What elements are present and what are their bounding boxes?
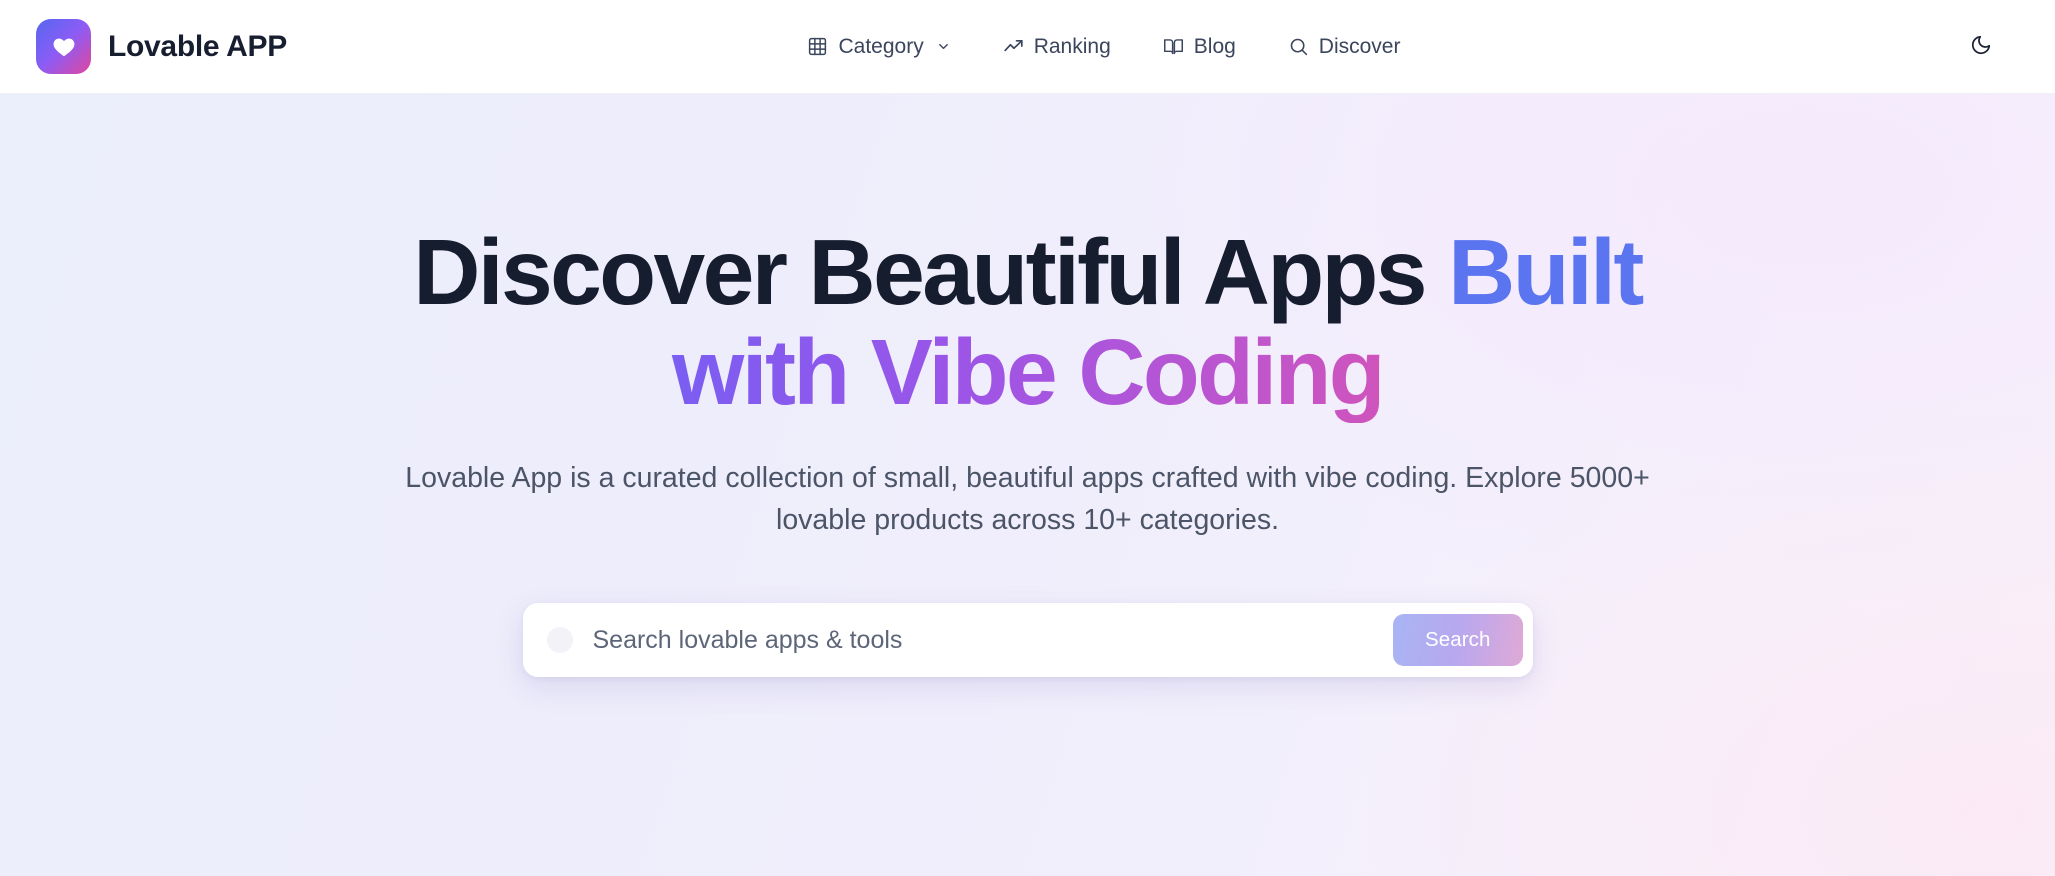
nav-item-ranking[interactable]: Ranking — [1003, 36, 1111, 57]
search-bar[interactable]: Search — [523, 603, 1533, 677]
nav-item-category[interactable]: Category — [807, 36, 950, 57]
grid-icon — [807, 36, 828, 57]
nav-item-label: Category — [838, 36, 923, 57]
nav-item-blog[interactable]: Blog — [1163, 36, 1236, 57]
search-button[interactable]: Search — [1393, 614, 1523, 666]
heart-icon — [36, 19, 91, 74]
hero-search-wrapper: Search — [523, 603, 1533, 677]
headline-text-plain: Discover Beautiful Apps — [413, 220, 1448, 324]
page-title: Discover Beautiful Apps Built with Vibe … — [373, 222, 1682, 423]
headline-highlight-built: Built — [1448, 220, 1642, 324]
header-actions — [1961, 27, 2019, 67]
site-header: Lovable APP Category — [0, 0, 2055, 94]
nav-item-label: Discover — [1319, 36, 1401, 57]
hero-section: Discover Beautiful Apps Built with Vibe … — [0, 94, 2055, 876]
headline-line-1: Discover Beautiful Apps Built — [413, 220, 1642, 324]
search-input[interactable] — [587, 626, 1379, 655]
headline-line-2: with Vibe Coding — [413, 322, 1642, 422]
search-icon — [1288, 36, 1309, 57]
moon-icon — [1970, 34, 1992, 59]
search-icon — [547, 627, 573, 653]
nav-item-label: Blog — [1194, 36, 1236, 57]
book-open-icon — [1163, 36, 1184, 57]
hero-subtitle: Lovable App is a curated collection of s… — [363, 457, 1693, 541]
theme-toggle-button[interactable] — [1961, 27, 2001, 67]
nav-item-discover[interactable]: Discover — [1288, 36, 1401, 57]
page-root: Lovable APP Category — [0, 0, 2055, 876]
chevron-down-icon — [936, 39, 951, 54]
main-navigation: Category Ranking — [247, 36, 1961, 57]
trending-up-icon — [1003, 36, 1024, 57]
nav-item-label: Ranking — [1034, 36, 1111, 57]
